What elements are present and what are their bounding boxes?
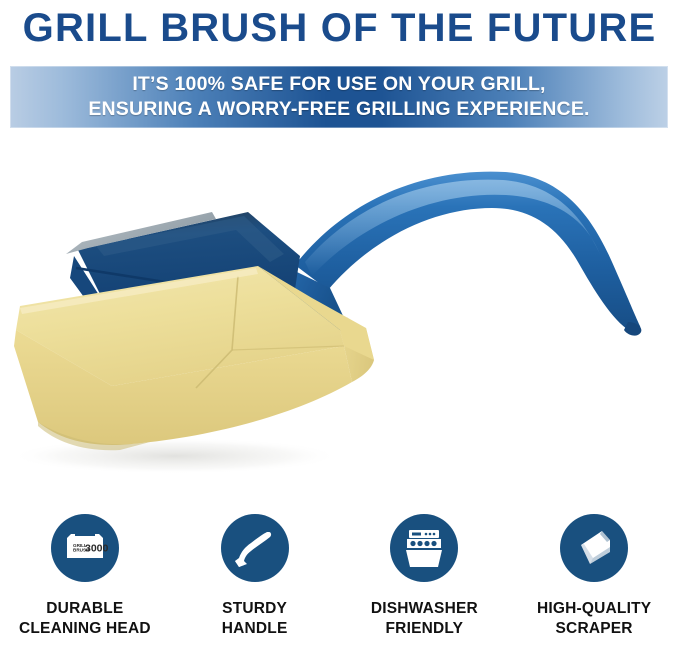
product-illustration [0, 150, 679, 490]
feature-label-high-quality-scraper: HIGH-QUALITY SCRAPER [537, 599, 651, 640]
product-infographic: GRILL BRUSH OF THE FUTURE IT’S 100% SAFE… [0, 0, 679, 655]
feature-label-sturdy-handle: STURDY HANDLE [222, 599, 288, 640]
subheadline-line-2: ENSURING A WORRY-FREE GRILLING EXPERIENC… [88, 97, 589, 122]
cleaning-head-badge-icon: GRILL BRUSH 3000 [51, 514, 119, 582]
feature-durable-cleaning-head[interactable]: GRILL BRUSH 3000 DURABLE CLEANING HEAD [0, 500, 170, 655]
feature-label-dishwasher-friendly: DISHWASHER FRIENDLY [371, 599, 478, 640]
product-shadow [10, 438, 340, 474]
feature-dishwasher-friendly[interactable]: DISHWASHER FRIENDLY [340, 500, 510, 655]
cleaning-head-badge-circle: GRILL BRUSH 3000 [51, 514, 119, 582]
subheadline-line-1: IT’S 100% SAFE FOR USE ON YOUR GRILL, [132, 72, 545, 97]
feature-label-durable-cleaning-head: DURABLE CLEANING HEAD [19, 599, 151, 640]
scraper-circle [560, 514, 628, 582]
sturdy-handle-circle [221, 514, 289, 582]
brush-handle-icon [221, 514, 289, 582]
dishwasher-circle [390, 514, 458, 582]
feature-high-quality-scraper[interactable]: HIGH-QUALITY SCRAPER [509, 500, 679, 655]
product-image [0, 150, 679, 490]
subheadline-banner: IT’S 100% SAFE FOR USE ON YOUR GRILL, EN… [10, 66, 668, 128]
headline-text: GRILL BRUSH OF THE FUTURE [23, 8, 657, 48]
feature-sturdy-handle[interactable]: STURDY HANDLE [170, 500, 340, 655]
badge-model: 3000 [85, 543, 109, 555]
feature-row: GRILL BRUSH 3000 DURABLE CLEANING HEAD S… [0, 500, 679, 655]
scraper-blade-icon [560, 514, 628, 582]
headline: GRILL BRUSH OF THE FUTURE [0, 0, 679, 56]
dishwasher-icon [390, 514, 458, 582]
